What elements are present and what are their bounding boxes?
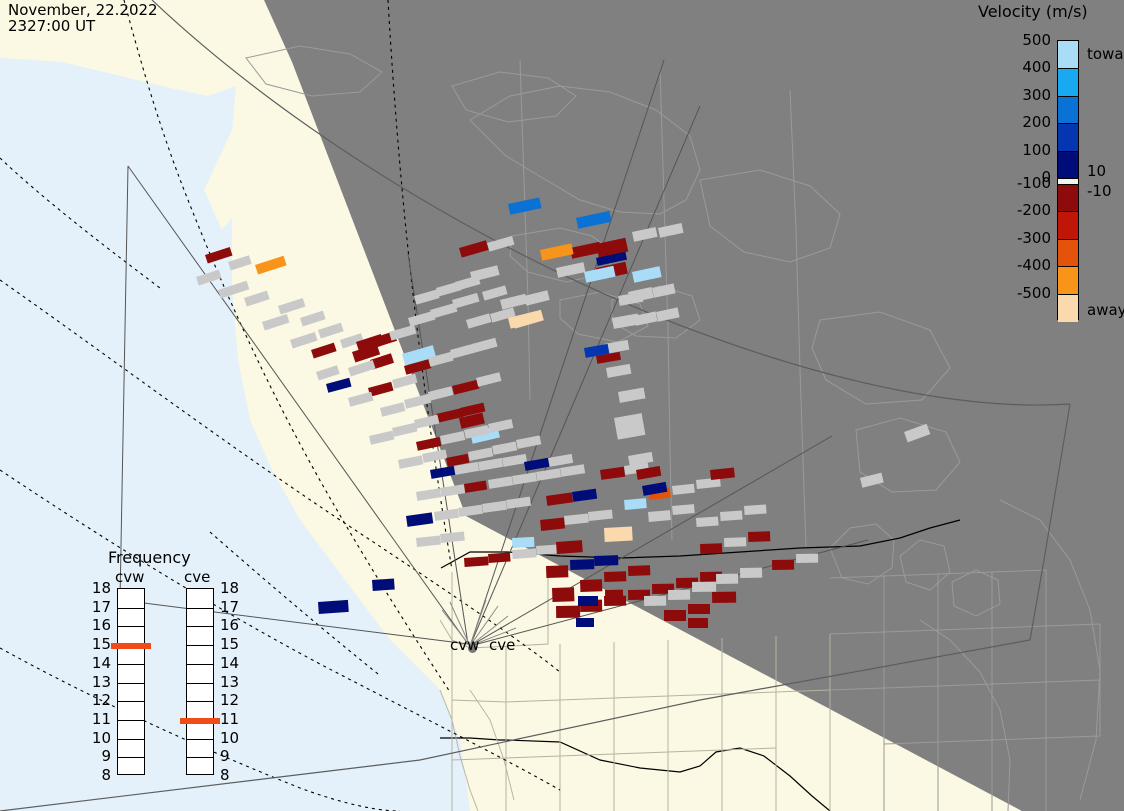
superdarn-map-view: cvwcve November, 22.20222327:00 UT Veloc… bbox=[0, 0, 1124, 811]
scatter-cell bbox=[688, 618, 708, 628]
frequency-cell bbox=[118, 757, 144, 758]
scatter-cell bbox=[512, 548, 537, 559]
frequency-cell bbox=[118, 739, 144, 740]
frequency-tick-cvw: 16 bbox=[89, 616, 111, 634]
frequency-cell bbox=[187, 701, 213, 702]
scatter-cell bbox=[700, 543, 722, 554]
colorbar-toward-label: toward bbox=[1087, 45, 1124, 63]
frequency-tick-cve: 15 bbox=[220, 635, 239, 653]
frequency-tick-cvw: 15 bbox=[89, 635, 111, 653]
frequency-cell bbox=[118, 683, 144, 684]
frequency-tick-cve: 10 bbox=[220, 729, 239, 747]
frequency-tick-cve: 12 bbox=[220, 691, 239, 709]
frequency-tick-cve: 9 bbox=[220, 747, 230, 765]
colorbar-band bbox=[1058, 184, 1078, 212]
scatter-cell bbox=[318, 600, 349, 614]
frequency-tick-cvw: 18 bbox=[89, 579, 111, 597]
timestamp-time: 2327:00 UT bbox=[8, 17, 95, 35]
frequency-tick-cvw: 9 bbox=[89, 747, 111, 765]
colorbar-plus-ten-label: 10 bbox=[1087, 162, 1106, 180]
colorbar-band bbox=[1058, 68, 1078, 96]
frequency-tick-cvw: 12 bbox=[89, 691, 111, 709]
scatter-cell bbox=[464, 556, 489, 567]
scatter-cell bbox=[772, 560, 794, 570]
scatter-cell bbox=[720, 510, 743, 521]
frequency-tick-cve: 18 bbox=[220, 579, 239, 597]
frequency-marker-cve bbox=[180, 718, 220, 724]
scatter-cell bbox=[668, 590, 690, 600]
scatter-cell bbox=[604, 571, 626, 582]
frequency-tick-cvw: 11 bbox=[89, 710, 111, 728]
scatter-cell bbox=[716, 574, 738, 584]
scatter-cell bbox=[576, 618, 594, 627]
scatter-cell bbox=[672, 504, 695, 515]
scatter-cell bbox=[696, 516, 719, 527]
frequency-header-cvw: cvw bbox=[115, 568, 144, 586]
colorbar-band bbox=[1058, 123, 1078, 151]
frequency-marker-cvw bbox=[111, 643, 151, 649]
colorbar-band bbox=[1058, 151, 1078, 179]
scatter-cell bbox=[580, 579, 602, 592]
colorbar-away-label: away bbox=[1087, 301, 1124, 319]
colorbar-band bbox=[1058, 41, 1078, 68]
scatter-cell bbox=[748, 531, 770, 542]
scatter-cell bbox=[556, 540, 583, 554]
site-label-cve: cve bbox=[489, 636, 515, 654]
frequency-cell bbox=[187, 739, 213, 740]
frequency-cell bbox=[187, 626, 213, 627]
frequency-tick-cve: 13 bbox=[220, 673, 239, 691]
scatter-cell bbox=[605, 590, 623, 599]
scatter-cell bbox=[578, 596, 598, 606]
frequency-cell bbox=[118, 701, 144, 702]
colorbar-band bbox=[1058, 211, 1078, 239]
colorbar-band bbox=[1058, 239, 1078, 267]
scatter-cell bbox=[488, 552, 511, 563]
colorbar-tick: 300 bbox=[1022, 86, 1051, 104]
frequency-tick-cvw: 14 bbox=[89, 654, 111, 672]
scatter-cell bbox=[688, 604, 710, 614]
scatter-cell bbox=[604, 527, 633, 542]
frequency-tick-cvw: 17 bbox=[89, 598, 111, 616]
frequency-tick-cve: 16 bbox=[220, 616, 239, 634]
colorbar-tick: -300 bbox=[1017, 229, 1051, 247]
map-canvas[interactable]: cvwcve bbox=[0, 0, 1124, 811]
frequency-cell bbox=[118, 720, 144, 721]
scatter-cell bbox=[740, 568, 762, 578]
frequency-tick-cve: 17 bbox=[220, 598, 239, 616]
frequency-tick-cvw: 8 bbox=[89, 766, 111, 784]
site-label-cvw: cvw bbox=[450, 636, 479, 654]
frequency-tick-cve: 14 bbox=[220, 654, 239, 672]
scatter-cell bbox=[692, 582, 716, 592]
scatter-cell bbox=[664, 610, 686, 621]
frequency-tick-cve: 11 bbox=[220, 710, 239, 728]
colorbar-tick: 100 bbox=[1022, 141, 1051, 159]
frequency-tick-cve: 8 bbox=[220, 766, 230, 784]
frequency-bar-cve[interactable] bbox=[186, 588, 214, 775]
colorbar-minus-ten-label: -10 bbox=[1087, 182, 1112, 200]
scatter-cell bbox=[372, 578, 395, 591]
scatter-cell bbox=[624, 498, 647, 510]
frequency-cell bbox=[187, 757, 213, 758]
colorbar-tick: 400 bbox=[1022, 58, 1051, 76]
frequency-cell bbox=[118, 664, 144, 665]
colorbar-tick: -500 bbox=[1017, 284, 1051, 302]
scatter-cell bbox=[628, 565, 650, 576]
frequency-header-cve: cve bbox=[184, 568, 210, 586]
colorbar-tick: 200 bbox=[1022, 113, 1051, 131]
colorbar-band bbox=[1058, 294, 1078, 322]
scatter-cell bbox=[546, 565, 568, 578]
frequency-cell bbox=[187, 683, 213, 684]
colorbar-title: Velocity (m/s) bbox=[978, 2, 1088, 21]
frequency-cell bbox=[187, 608, 213, 609]
frequency-tick-cvw: 10 bbox=[89, 729, 111, 747]
scatter-cell bbox=[724, 537, 746, 547]
scatter-cell bbox=[796, 554, 818, 563]
scatter-cell bbox=[552, 587, 574, 602]
scatter-cell bbox=[648, 510, 671, 522]
colorbar-band bbox=[1058, 96, 1078, 124]
velocity-colorbar[interactable] bbox=[1057, 40, 1079, 320]
frequency-bar-cvw[interactable] bbox=[117, 588, 145, 775]
frequency-tick-cvw: 13 bbox=[89, 673, 111, 691]
frequency-cell bbox=[118, 608, 144, 609]
frequency-cell bbox=[187, 645, 213, 646]
frequency-cell bbox=[118, 626, 144, 627]
frequency-cell bbox=[187, 664, 213, 665]
scatter-cell bbox=[512, 537, 534, 548]
colorbar-tick: -200 bbox=[1017, 201, 1051, 219]
colorbar-tick: -400 bbox=[1017, 256, 1051, 274]
radar-fov-layer bbox=[0, 0, 1124, 811]
scatter-cell bbox=[594, 555, 618, 566]
colorbar-tick: -100 bbox=[1017, 174, 1051, 192]
scatter-cell bbox=[570, 559, 594, 570]
scatter-cell bbox=[644, 596, 666, 606]
frequency-legend-title: Frequency bbox=[108, 548, 191, 567]
colorbar-tick: 500 bbox=[1022, 31, 1051, 49]
timestamp: November, 22.20222327:00 UT bbox=[8, 2, 158, 34]
scatter-cell bbox=[712, 592, 736, 603]
scatter-cell bbox=[556, 606, 580, 618]
colorbar-band bbox=[1058, 266, 1078, 294]
scatter-cell bbox=[744, 504, 767, 515]
